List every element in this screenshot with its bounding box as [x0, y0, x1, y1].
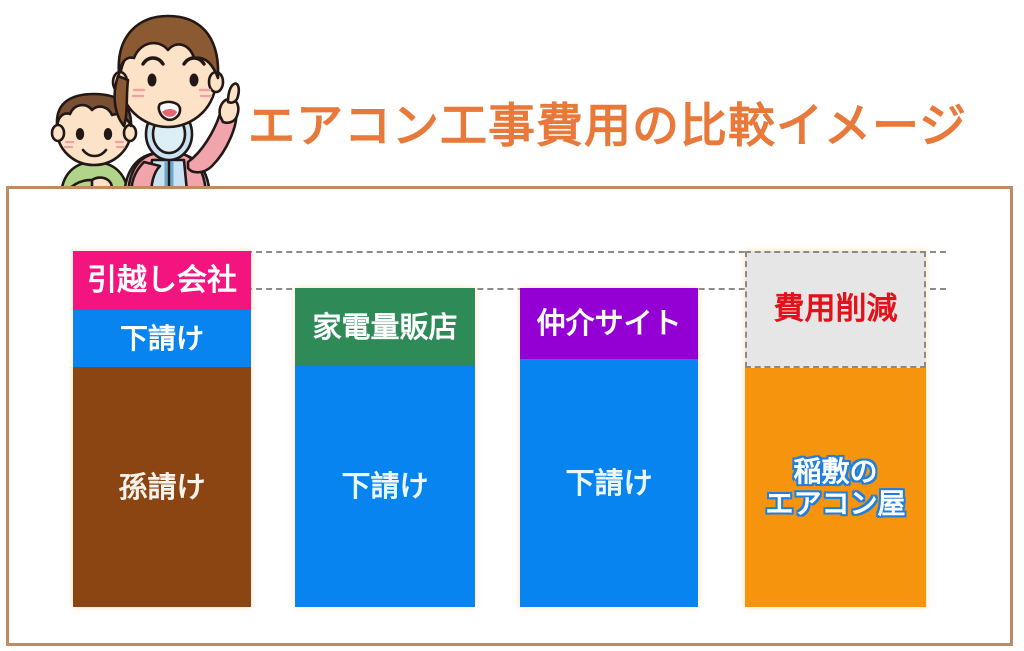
segment-subcontractor: 下請け	[295, 366, 475, 607]
segment-subcontractor: 下請け	[73, 310, 251, 367]
segment-broker-site: 仲介サイト	[520, 288, 698, 359]
infographic-canvas: エアコン工事費用の比較イメージ 引越し会社 下請け 孫請け 家電量販店 下請け …	[0, 0, 1024, 651]
bar-electronics-store: 家電量販店 下請け	[295, 288, 475, 607]
segment-moving-company: 引越し会社	[73, 251, 251, 310]
mother-and-child-with-magnifier-illustration	[28, 2, 258, 202]
page-title: エアコン工事費用の比較イメージ	[248, 96, 1018, 158]
bar-moving-company: 引越し会社 下請け 孫請け	[73, 251, 251, 607]
segment-electronics-store: 家電量販店	[295, 288, 475, 366]
bar-inashiki-aircon: 費用削減 稲敷の エアコン屋	[745, 251, 926, 607]
segment-sub-subcontractor: 孫請け	[73, 367, 251, 607]
segment-cost-reduction: 費用削減	[745, 251, 926, 368]
segment-subcontractor: 下請け	[520, 359, 698, 607]
segment-inashiki-aircon: 稲敷の エアコン屋	[745, 368, 926, 607]
bar-broker-site: 仲介サイト 下請け	[520, 288, 698, 607]
